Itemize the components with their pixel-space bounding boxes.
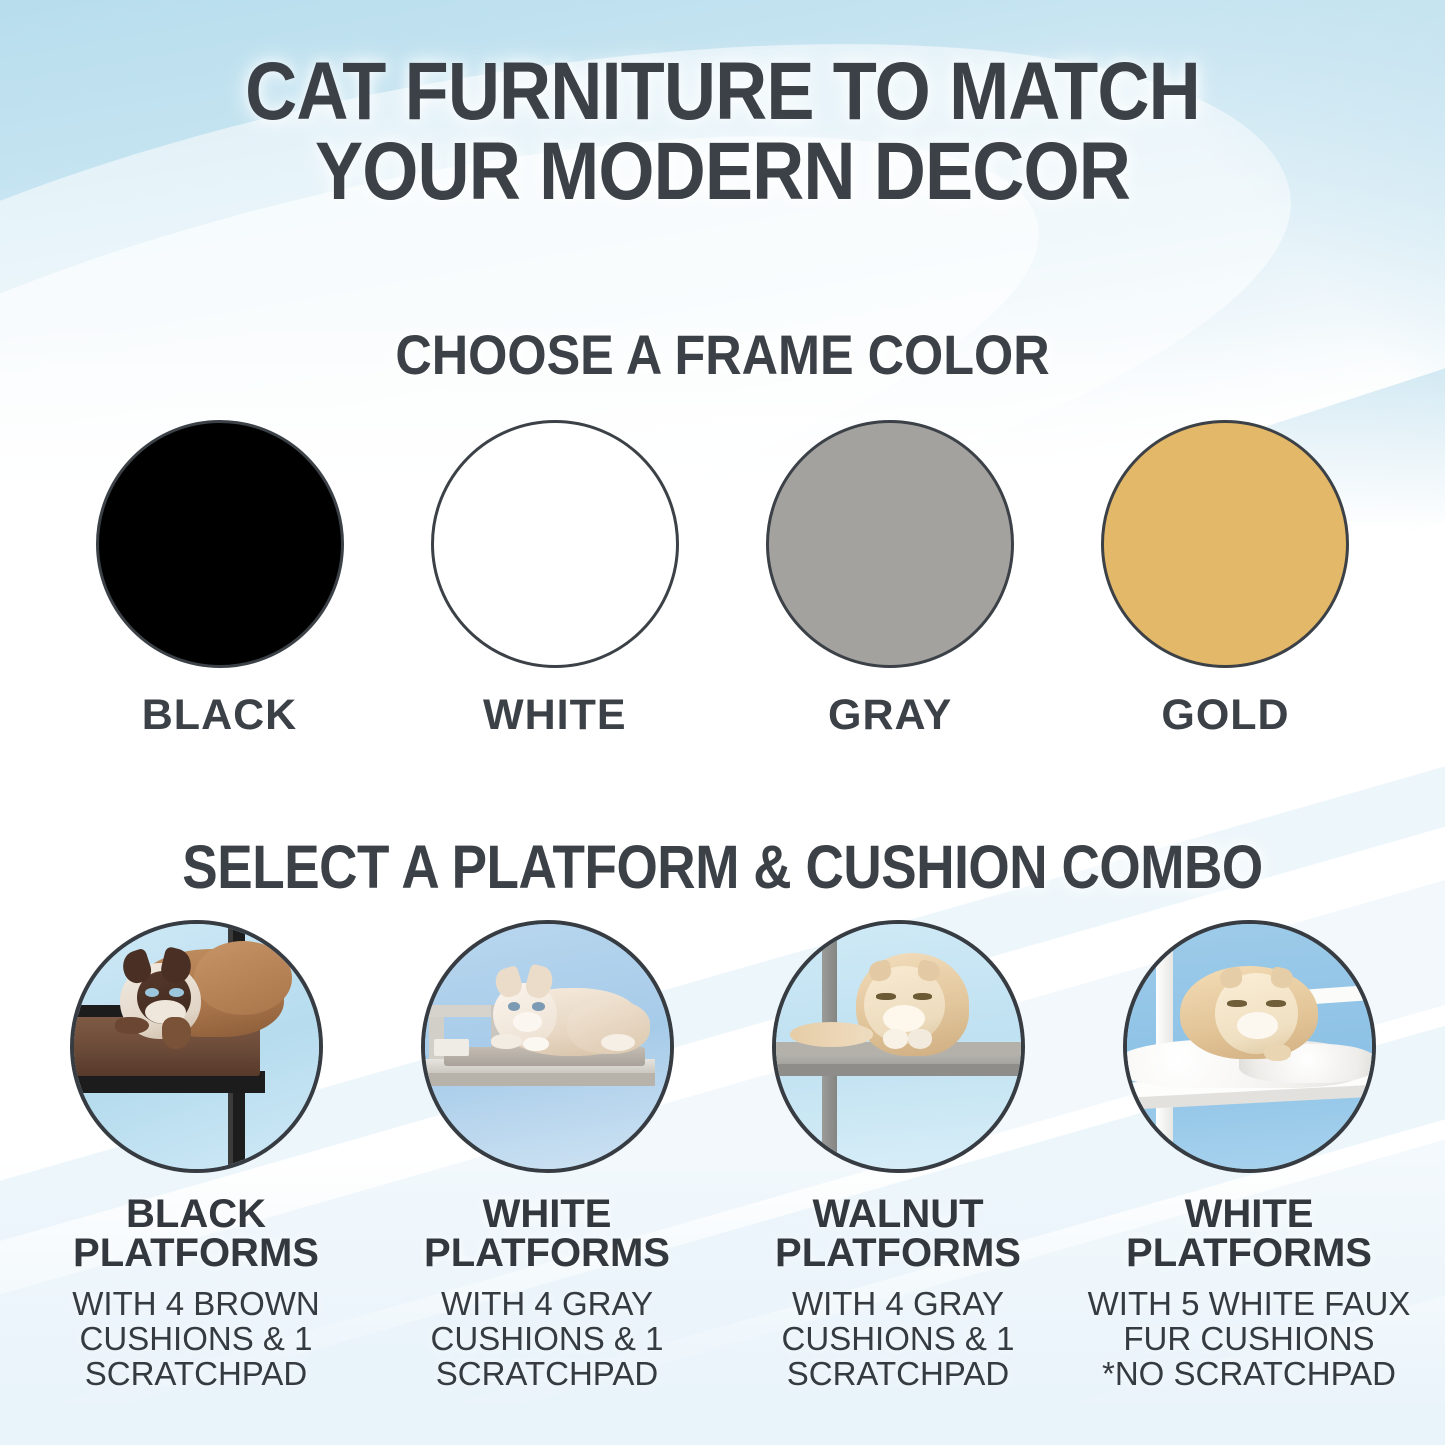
combo-desc-black: WITH 4 BROWN CUSHIONS & 1 SCRATCHPAD [72,1287,319,1392]
infographic-page: CAT FURNITURE TO MATCH YOUR MODERN DECOR… [0,0,1445,1445]
color-swatch-white[interactable] [431,420,679,668]
swatch-option-white[interactable]: WHITE [407,420,702,740]
frame-color-section-title: CHOOSE A FRAME COLOR [72,322,1373,387]
swatch-label-gray: GRAY [828,691,952,740]
combo-option-walnut-platforms[interactable]: WALNUT PLATFORMS WITH 4 GRAY CUSHIONS & … [728,920,1068,1392]
photo-white-platform[interactable] [421,920,674,1173]
combo-section-title: SELECT A PLATFORM & CUSHION COMBO [94,832,1351,902]
photo-white-faux-fur-platform[interactable] [1123,920,1376,1173]
swatch-option-gray[interactable]: GRAY [743,420,1038,740]
combo-name-black: BLACK PLATFORMS [26,1195,366,1273]
page-headline: CAT FURNITURE TO MATCH YOUR MODERN DECOR [87,52,1359,213]
combo-name-white: WHITE PLATFORMS [377,1195,717,1273]
combo-desc-white-fur: WITH 5 WHITE FAUX FUR CUSHIONS *NO SCRAT… [1088,1287,1411,1392]
photo-walnut-platform[interactable] [772,920,1025,1173]
combo-desc-white: WITH 4 GRAY CUSHIONS & 1 SCRATCHPAD [431,1287,664,1392]
swatch-option-gold[interactable]: GOLD [1078,420,1373,740]
swatch-label-gold: GOLD [1161,691,1289,740]
combo-name-walnut: WALNUT PLATFORMS [728,1195,1068,1273]
swatch-option-black[interactable]: BLACK [72,420,367,740]
swatch-label-black: BLACK [142,691,297,740]
photo-black-platform[interactable] [70,920,323,1173]
headline-line-2: YOUR MODERN DECOR [87,132,1359,212]
combo-option-white-platforms[interactable]: WHITE PLATFORMS WITH 4 GRAY CUSHIONS & 1… [377,920,717,1392]
combo-name-white-fur: WHITE PLATFORMS [1079,1195,1419,1273]
headline-line-1: CAT FURNITURE TO MATCH [245,46,1200,137]
frame-color-swatch-row: BLACK WHITE GRAY GOLD [72,420,1373,740]
color-swatch-gold[interactable] [1101,420,1349,668]
combo-option-black-platforms[interactable]: BLACK PLATFORMS WITH 4 BROWN CUSHIONS & … [26,920,366,1392]
combo-option-white-faux-fur[interactable]: WHITE PLATFORMS WITH 5 WHITE FAUX FUR CU… [1079,920,1419,1392]
swatch-label-white: WHITE [483,691,627,740]
combo-desc-walnut: WITH 4 GRAY CUSHIONS & 1 SCRATCHPAD [782,1287,1015,1392]
color-swatch-black[interactable] [96,420,344,668]
color-swatch-gray[interactable] [766,420,1014,668]
combo-option-row: BLACK PLATFORMS WITH 4 BROWN CUSHIONS & … [26,920,1419,1392]
